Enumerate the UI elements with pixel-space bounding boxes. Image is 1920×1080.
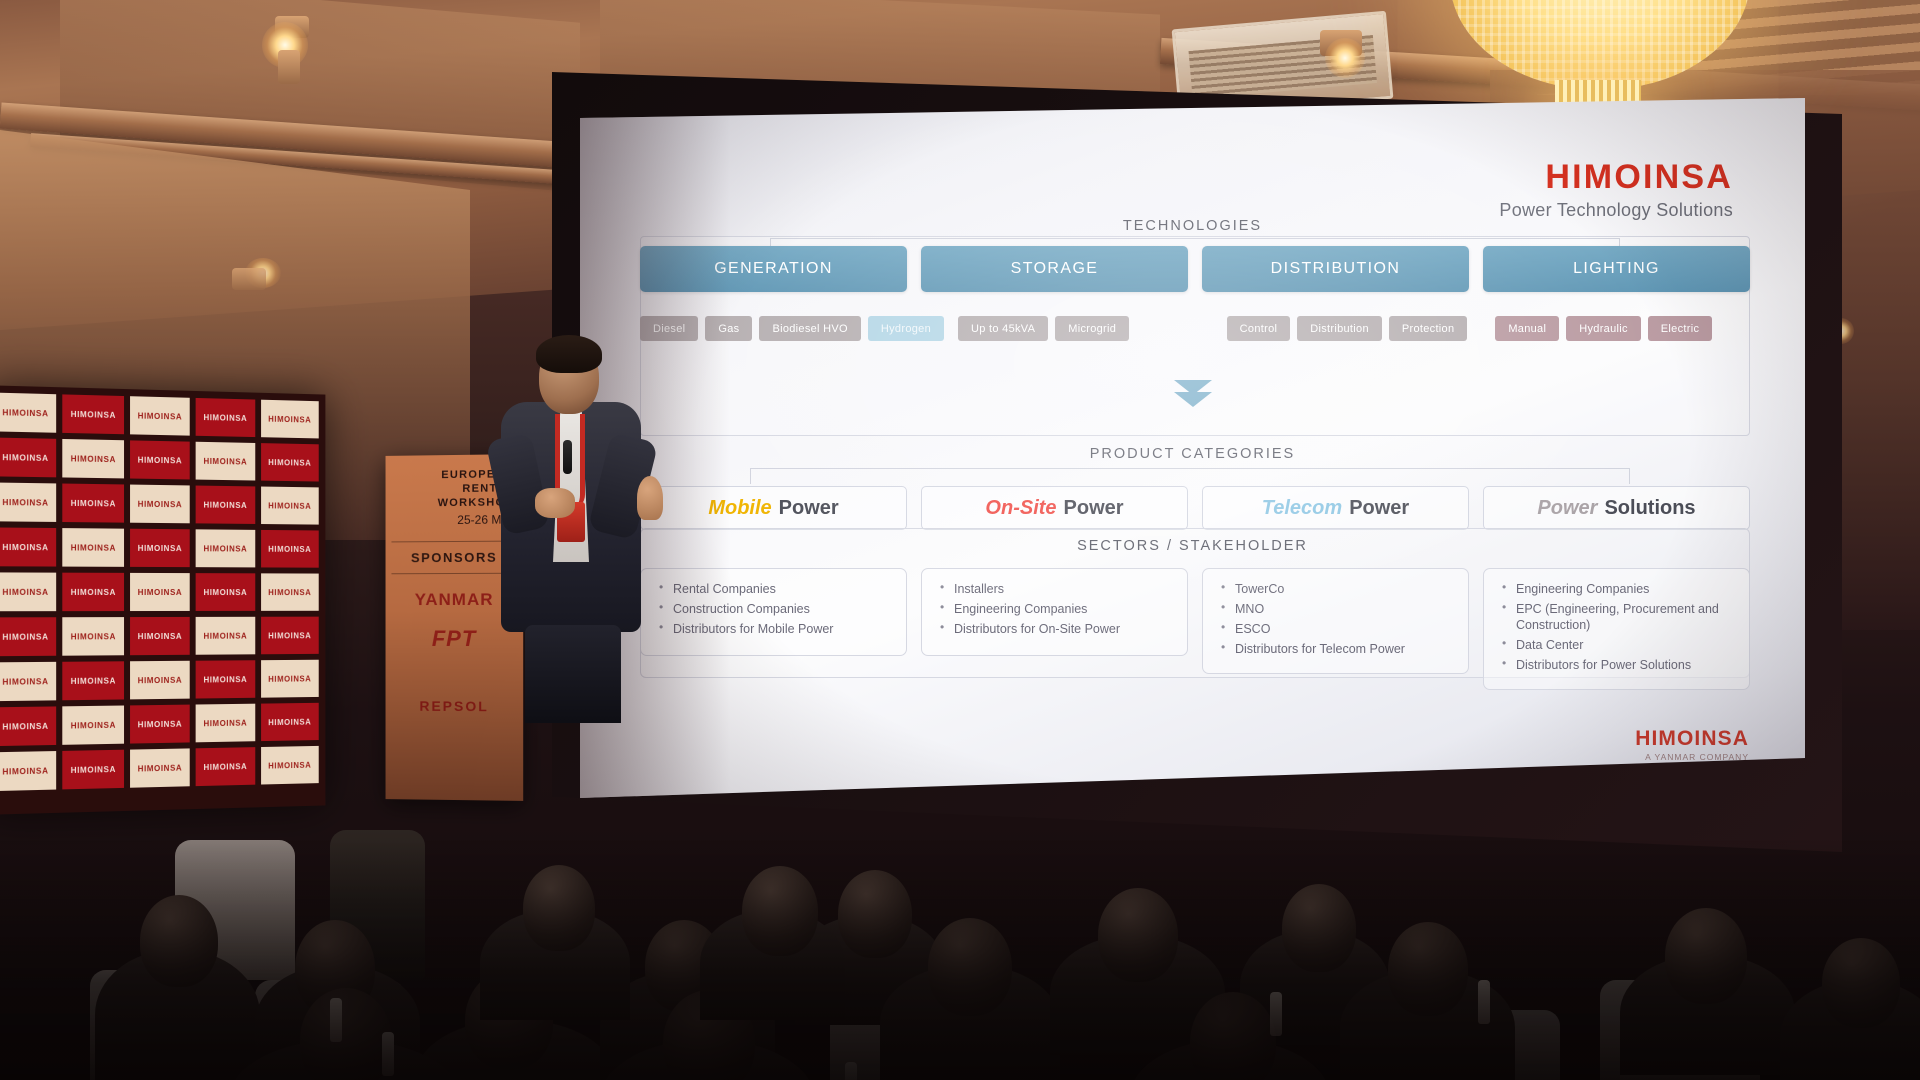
presenter-legs (525, 625, 621, 723)
ceiling-spotlight (1325, 38, 1365, 78)
sectors-row: Rental CompaniesConstruction CompaniesDi… (640, 568, 1750, 690)
pill-distribution[interactable]: Control (1227, 316, 1291, 341)
presenter (495, 340, 680, 720)
backdrop-logo-tile: HIMOINSA (261, 487, 319, 525)
pill-storage[interactable]: Microgrid (1055, 316, 1129, 341)
pill-generation[interactable]: Hydrogen (868, 316, 944, 341)
sector-list-item: MNO (1219, 601, 1458, 617)
technologies-label: TECHNOLOGIES (580, 218, 1805, 234)
backdrop-logo-tile: HIMOINSA (196, 442, 255, 481)
pill-group-distribution: ControlDistributionProtection (1227, 316, 1482, 341)
brand-name: HIMOINSA (1499, 158, 1733, 197)
sector-list-item: EPC (Engineering, Procurement and Constr… (1500, 601, 1739, 633)
product-category-plain: Power (1349, 497, 1409, 520)
product-category-plain: Power (1064, 497, 1124, 520)
pill-generation[interactable]: Biodiesel HVO (759, 316, 860, 341)
ceiling-spotlight-housing (278, 50, 300, 84)
backdrop-logo-tile: HIMOINSA (0, 438, 57, 478)
backdrop-logo-tile: HIMOINSA (63, 394, 124, 434)
pill-group-lighting: ManualHydraulicElectric (1495, 316, 1750, 341)
sector-list-item: Distributors for On-Site Power (938, 621, 1177, 637)
sector-list-item: Rental Companies (657, 581, 896, 597)
pill-storage[interactable]: Up to 45kVA (958, 316, 1048, 341)
sector-box[interactable]: TowerCoMNOESCODistributors for Telecom P… (1202, 568, 1469, 674)
backdrop-logo-tile: HIMOINSA (261, 530, 319, 568)
technology-box[interactable]: GENERATION (640, 246, 907, 292)
sector-box[interactable]: Engineering CompaniesEPC (Engineering, P… (1483, 568, 1750, 690)
sector-list-item: Data Center (1500, 637, 1739, 653)
product-categories-row: MobilePowerOn-SitePowerTelecomPowerPower… (640, 486, 1750, 530)
sector-list-item: Distributors for Power Solutions (1500, 657, 1739, 673)
backdrop-logo-tile: HIMOINSA (261, 400, 319, 439)
sector-list-item: Installers (938, 581, 1177, 597)
sector-list-item: Distributors for Mobile Power (657, 621, 896, 637)
product-category-box[interactable]: PowerSolutions (1483, 486, 1750, 530)
backdrop-logo-tile: HIMOINSA (196, 529, 255, 567)
product-category-box[interactable]: MobilePower (640, 486, 907, 530)
product-category-plain: Power (779, 497, 839, 520)
pill-lighting[interactable]: Manual (1495, 316, 1559, 341)
backdrop-logo-tile: HIMOINSA (0, 393, 57, 433)
sector-list-item: ESCO (1219, 621, 1458, 637)
product-category-box[interactable]: TelecomPower (1202, 486, 1469, 530)
sector-list-item: Engineering Companies (938, 601, 1177, 617)
pill-lighting[interactable]: Hydraulic (1566, 316, 1641, 341)
audience (0, 680, 1920, 1080)
sector-list: Rental CompaniesConstruction CompaniesDi… (657, 581, 896, 637)
backdrop-logo-tile: HIMOINSA (63, 439, 124, 478)
sector-list-item: Construction Companies (657, 601, 896, 617)
presenter-left-hand (535, 488, 575, 518)
slide-brand-logo: HIMOINSA Power Technology Solutions (1499, 158, 1733, 221)
backdrop-logo-tile: HIMOINSA (261, 443, 319, 481)
backdrop-logo-tile: HIMOINSA (261, 573, 319, 610)
pill-distribution[interactable]: Distribution (1297, 316, 1382, 341)
product-category-accent: Telecom (1262, 497, 1342, 520)
sector-list-item: TowerCo (1219, 581, 1458, 597)
backdrop-logo-tile: HIMOINSA (196, 486, 255, 524)
technology-box[interactable]: STORAGE (921, 246, 1188, 292)
pill-lighting[interactable]: Electric (1648, 316, 1712, 341)
backdrop-logo-tile: HIMOINSA (261, 617, 319, 655)
backdrop-logo-tile: HIMOINSA (63, 484, 124, 523)
pill-generation[interactable]: Diesel (640, 316, 698, 341)
backdrop-logo-tile: HIMOINSA (0, 482, 57, 521)
pill-generation[interactable]: Gas (705, 316, 752, 341)
sector-list: TowerCoMNOESCODistributors for Telecom P… (1219, 581, 1458, 657)
backdrop-logo-tile: HIMOINSA (196, 573, 255, 611)
backdrop-logo-tile: HIMOINSA (130, 485, 190, 524)
product-category-accent: Power (1537, 497, 1597, 520)
backdrop-logo-tile: HIMOINSA (196, 398, 255, 437)
down-arrow-icon (580, 380, 1805, 407)
pill-distribution[interactable]: Protection (1389, 316, 1468, 341)
microphone (563, 440, 572, 474)
technologies-row: GENERATIONSTORAGEDISTRIBUTIONLIGHTING (640, 246, 1750, 292)
presenter-hair (536, 335, 602, 373)
backdrop-logo-tile: HIMOINSA (63, 528, 124, 567)
product-category-accent: On-Site (985, 497, 1056, 520)
product-category-accent: Mobile (708, 497, 771, 520)
product-category-box[interactable]: On-SitePower (921, 486, 1188, 530)
backdrop-logo-tile: HIMOINSA (0, 527, 57, 566)
sector-box[interactable]: Rental CompaniesConstruction CompaniesDi… (640, 568, 907, 656)
sector-list: Engineering CompaniesEPC (Engineering, P… (1500, 581, 1739, 673)
technology-box[interactable]: LIGHTING (1483, 246, 1750, 292)
backdrop-logo-tile: HIMOINSA (130, 396, 190, 435)
backdrop-logo-tile: HIMOINSA (0, 572, 57, 611)
backdrop-logo-tile: HIMOINSA (63, 617, 124, 656)
sector-list: InstallersEngineering CompaniesDistribut… (938, 581, 1177, 637)
presenter-right-hand (637, 476, 663, 520)
backdrop-logo-tile: HIMOINSA (130, 529, 190, 567)
backdrop-logo-tile: HIMOINSA (130, 617, 190, 655)
pill-group-generation: DieselGasBiodiesel HVOHydrogen (640, 316, 944, 341)
sectors-label: SECTORS / STAKEHOLDER (580, 538, 1805, 554)
backdrop-logo-tile: HIMOINSA (0, 617, 57, 656)
technology-pills-row: DieselGasBiodiesel HVOHydrogenUp to 45kV… (640, 316, 1750, 341)
backdrop-logo-tile: HIMOINSA (196, 617, 255, 655)
technology-box[interactable]: DISTRIBUTION (1202, 246, 1469, 292)
wall-light-housing (232, 268, 266, 290)
sector-list-item: Engineering Companies (1500, 581, 1739, 597)
product-category-plain: Solutions (1604, 497, 1695, 520)
sector-box[interactable]: InstallersEngineering CompaniesDistribut… (921, 568, 1188, 656)
product-categories-label: PRODUCT CATEGORIES (580, 446, 1805, 462)
presentation-scene: HIMOINSA Power Technology Solutions TECH… (0, 0, 1920, 1080)
backdrop-logo-tile: HIMOINSA (130, 440, 190, 479)
pill-group-storage: Up to 45kVAMicrogrid (958, 316, 1213, 341)
sector-list-item: Distributors for Telecom Power (1219, 641, 1458, 657)
backdrop-logo-tile: HIMOINSA (63, 573, 124, 611)
backdrop-logo-tile: HIMOINSA (130, 573, 190, 611)
